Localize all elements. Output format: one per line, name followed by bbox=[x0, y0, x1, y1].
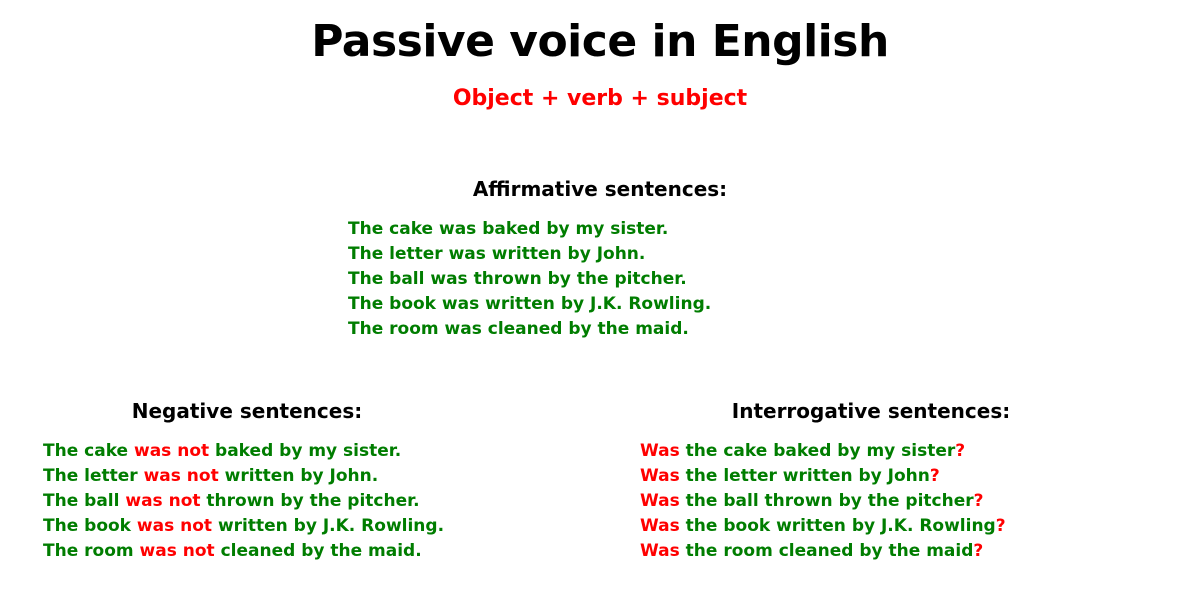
sentence-segment-green: The letter was written by John. bbox=[348, 244, 645, 264]
sentence-line: The cake was not baked by my sister. bbox=[43, 439, 600, 464]
affirmative-section-heading: Affirmative sentences: bbox=[0, 177, 1200, 201]
sentence-line: Was the ball thrown by the pitcher? bbox=[640, 489, 1200, 514]
sentence-segment-red: was not bbox=[140, 541, 215, 561]
sentence-line: Was the book written by J.K. Rowling? bbox=[640, 514, 1200, 539]
sentence-segment-green: the ball thrown by the pitcher bbox=[680, 491, 974, 511]
sentence-segment-red: ? bbox=[996, 516, 1006, 536]
sentence-segment-red: ? bbox=[955, 441, 965, 461]
sentence-segment-green: The room was cleaned by the maid. bbox=[348, 319, 689, 339]
sentence-segment-green: cleaned by the maid. bbox=[215, 541, 422, 561]
sentence-segment-red: Was bbox=[640, 516, 680, 536]
sentence-segment-green: the cake baked by my sister bbox=[680, 441, 956, 461]
sentence-line: The room was cleaned by the maid. bbox=[348, 317, 1200, 342]
sentence-segment-green: the room cleaned by the maid bbox=[680, 541, 974, 561]
sentence-segment-green: written by John. bbox=[219, 466, 378, 486]
sentence-segment-red: ? bbox=[930, 466, 940, 486]
interrogative-sentence-list: Was the cake baked by my sister?Was the … bbox=[600, 439, 1200, 564]
affirmative-sentences-section: Affirmative sentences: The cake was bake… bbox=[0, 160, 1200, 342]
sentence-segment-red: ? bbox=[973, 541, 983, 561]
sentence-segment-red: Was bbox=[640, 541, 680, 561]
interrogative-section-heading: Interrogative sentences: bbox=[600, 399, 1142, 423]
sentence-segment-green: The book bbox=[43, 516, 137, 536]
sentence-segment-green: The cake was baked by my sister. bbox=[348, 219, 668, 239]
sentence-segment-green: The book was written by J.K. Rowling. bbox=[348, 294, 711, 314]
sentence-segment-green: The ball bbox=[43, 491, 125, 511]
negative-section-heading: Negative sentences: bbox=[0, 399, 494, 423]
sentence-line: The letter was written by John. bbox=[348, 242, 1200, 267]
affirmative-sentence-list: The cake was baked by my sister.The lett… bbox=[0, 217, 1200, 342]
sentence-segment-red: Was bbox=[640, 491, 680, 511]
sentence-line: The letter was not written by John. bbox=[43, 464, 600, 489]
sentence-segment-green: the letter written by John bbox=[680, 466, 930, 486]
negative-sentences-section: Negative sentences: The cake was not bak… bbox=[0, 382, 600, 564]
sentence-segment-green: baked by my sister. bbox=[209, 441, 401, 461]
sentence-line: Was the room cleaned by the maid? bbox=[640, 539, 1200, 564]
sentence-line: The book was written by J.K. Rowling. bbox=[348, 292, 1200, 317]
page-subtitle-formula: Object + verb + subject bbox=[0, 86, 1200, 112]
sentence-line: The ball was thrown by the pitcher. bbox=[348, 267, 1200, 292]
sentence-line: The book was not written by J.K. Rowling… bbox=[43, 514, 600, 539]
sentence-line: The cake was baked by my sister. bbox=[348, 217, 1200, 242]
sentence-segment-red: was not bbox=[134, 441, 209, 461]
negative-sentence-list: The cake was not baked by my sister.The … bbox=[0, 439, 600, 564]
sentence-segment-green: The cake bbox=[43, 441, 134, 461]
page-title: Passive voice in English bbox=[0, 18, 1200, 66]
sentence-segment-green: The letter bbox=[43, 466, 144, 486]
sentence-segment-red: Was bbox=[640, 466, 680, 486]
sentence-segment-red: was not bbox=[125, 491, 200, 511]
sentence-segment-green: written by J.K. Rowling. bbox=[212, 516, 444, 536]
sentence-segment-red: was not bbox=[144, 466, 219, 486]
interrogative-sentences-section: Interrogative sentences: Was the cake ba… bbox=[600, 382, 1200, 564]
sentence-segment-red: was not bbox=[137, 516, 212, 536]
sentence-line: The ball was not thrown by the pitcher. bbox=[43, 489, 600, 514]
sentence-segment-red: Was bbox=[640, 441, 680, 461]
sentence-line: Was the cake baked by my sister? bbox=[640, 439, 1200, 464]
sentence-segment-red: ? bbox=[974, 491, 984, 511]
sentence-line: Was the letter written by John? bbox=[640, 464, 1200, 489]
sentence-segment-green: thrown by the pitcher. bbox=[201, 491, 420, 511]
sentence-segment-green: The room bbox=[43, 541, 140, 561]
sentence-line: The room was not cleaned by the maid. bbox=[43, 539, 600, 564]
sentence-segment-green: the book written by J.K. Rowling bbox=[680, 516, 996, 536]
sentence-segment-green: The ball was thrown by the pitcher. bbox=[348, 269, 687, 289]
